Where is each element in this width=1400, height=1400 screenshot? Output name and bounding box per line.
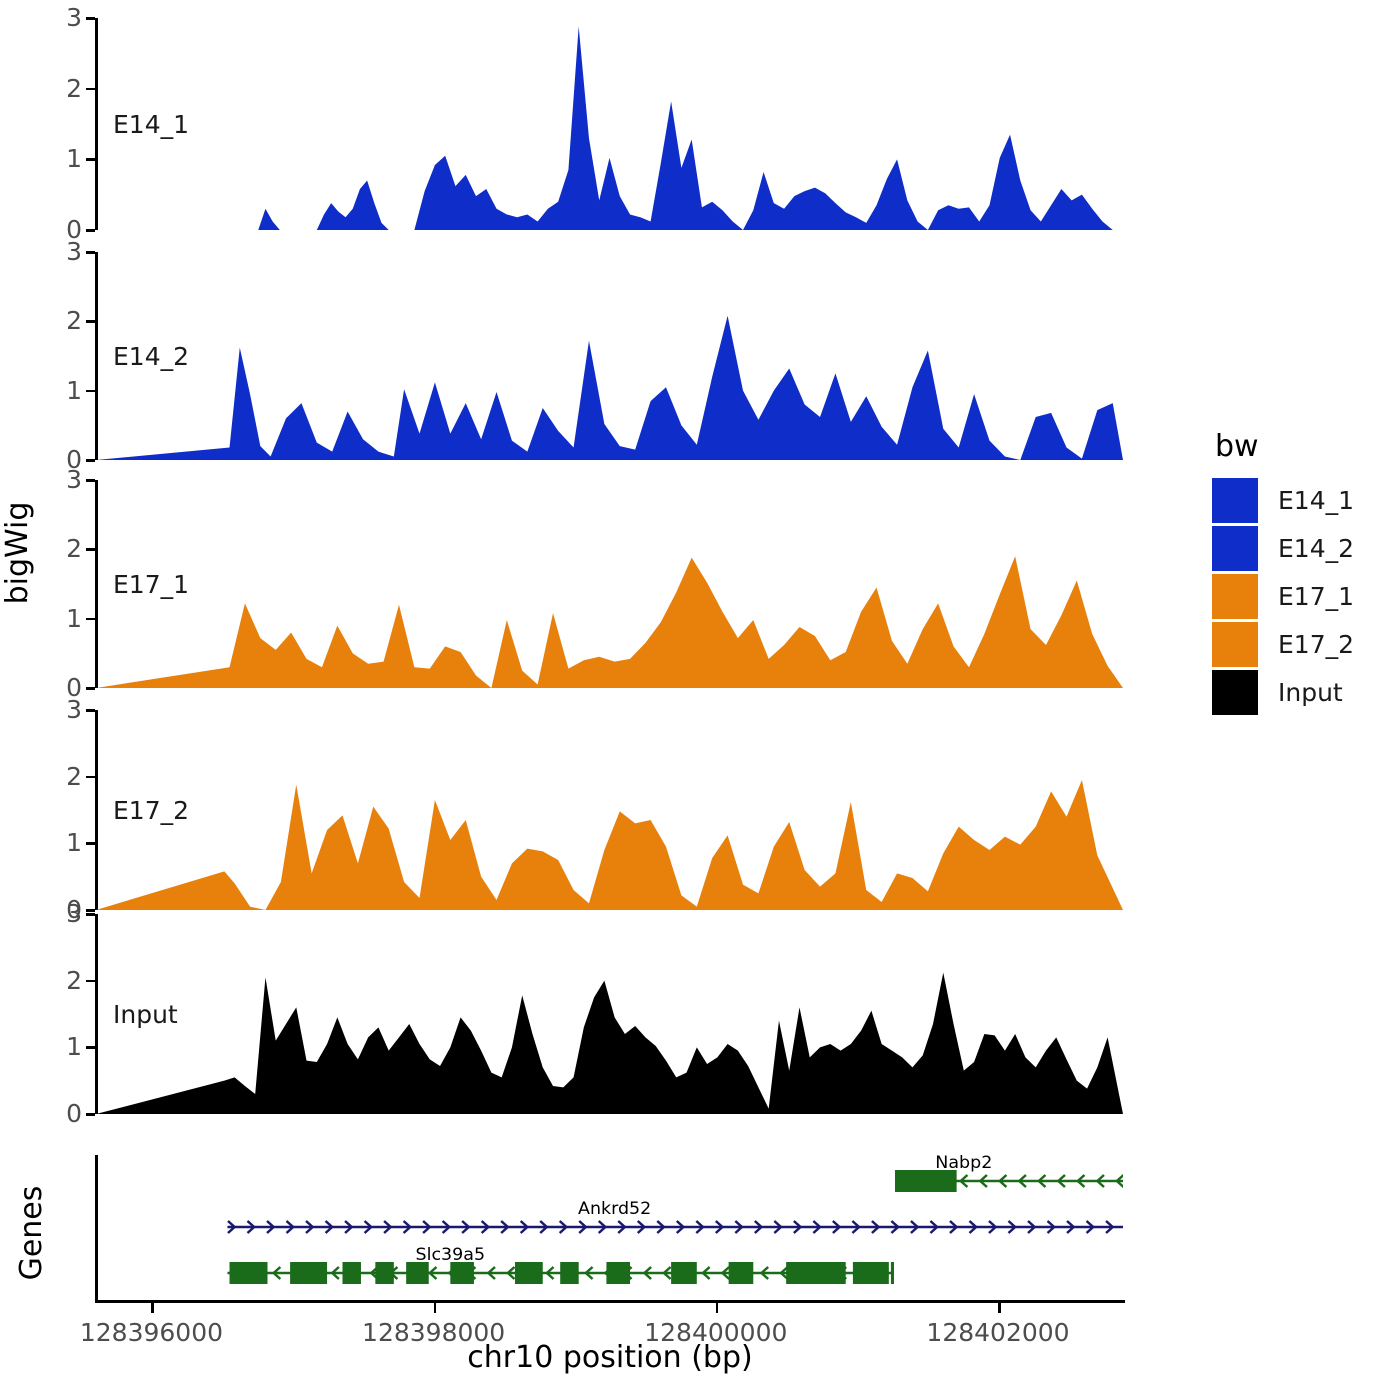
- legend-item-input[interactable]: Input: [1212, 668, 1392, 716]
- track-panel-e14_2: 0123E14_2: [95, 252, 1123, 460]
- legend-label: E14_2: [1278, 534, 1354, 563]
- y-tick-label: 1: [66, 830, 82, 855]
- legend-swatch: [1212, 526, 1258, 571]
- legend-label: Input: [1278, 678, 1343, 707]
- y-tick-e17_1-3: [86, 479, 95, 482]
- y-tick-label: 1: [66, 1034, 82, 1059]
- x-tick: [151, 1303, 154, 1313]
- x-axis-line: [95, 1300, 1125, 1303]
- legend: bw E14_1E14_2E17_1E17_2Input: [1212, 432, 1392, 716]
- track-panel-e17_2: 0123E17_2: [95, 710, 1123, 910]
- y-tick-label: 2: [66, 968, 82, 993]
- y-tick-e14_1-3: [86, 17, 95, 20]
- y-tick-input-2: [86, 980, 95, 983]
- y-tick-label: 3: [66, 697, 82, 722]
- y-tick-e14_2-2: [86, 320, 95, 323]
- y-tick-input-1: [86, 1046, 95, 1049]
- y-tick-e17_1-2: [86, 548, 95, 551]
- x-tick: [998, 1303, 1001, 1313]
- y-tick-e14_2-1: [86, 390, 95, 393]
- y-tick-e17_1-1: [86, 618, 95, 621]
- y-tick-e17_2-0: [86, 909, 95, 912]
- x-axis-title: chr10 position (bp): [95, 1340, 1125, 1375]
- track-panel-input: 0123Input: [95, 914, 1123, 1114]
- y-tick-label: 2: [66, 536, 82, 561]
- legend-item-e14_1[interactable]: E14_1: [1212, 476, 1392, 524]
- bigwig-axis-title: bigWig: [0, 483, 36, 623]
- y-tick-label: 0: [66, 1101, 82, 1126]
- svg-text:Nabp2: Nabp2: [935, 1155, 992, 1173]
- y-tick-label: 1: [66, 378, 82, 403]
- legend-label: E14_1: [1278, 486, 1354, 515]
- y-tick-label: 3: [66, 239, 82, 264]
- y-tick-label: 2: [66, 308, 82, 333]
- track-panel-e17_1: 0123E17_1: [95, 480, 1123, 688]
- legend-swatch: [1212, 622, 1258, 667]
- x-tick: [434, 1303, 437, 1313]
- y-tick-e14_2-0: [86, 459, 95, 462]
- svg-text:Slc39a5: Slc39a5: [416, 1245, 486, 1265]
- y-tick-e17_1-0: [86, 687, 95, 690]
- y-tick-label: 1: [66, 606, 82, 631]
- svg-text:Ankrd52: Ankrd52: [578, 1199, 651, 1219]
- y-tick-label: 2: [66, 764, 82, 789]
- genes-axis-title: Genes: [14, 1173, 50, 1293]
- legend-label: E17_2: [1278, 630, 1354, 659]
- x-tick: [716, 1303, 719, 1313]
- y-tick-label: 1: [66, 146, 82, 171]
- legend-item-e14_2[interactable]: E14_2: [1212, 524, 1392, 572]
- legend-swatch: [1212, 478, 1258, 523]
- legend-rows: E14_1E14_2E17_1E17_2Input: [1212, 476, 1392, 716]
- track-plot-e14_1[interactable]: [96, 18, 1123, 230]
- y-tick-e17_2-2: [86, 776, 95, 779]
- legend-title: bw: [1215, 432, 1392, 462]
- legend-item-e17_2[interactable]: E17_2: [1212, 620, 1392, 668]
- y-tick-e14_2-3: [86, 251, 95, 254]
- track-plot-input[interactable]: [96, 914, 1123, 1114]
- track-panel-e14_1: 0123E14_1: [95, 18, 1123, 230]
- y-tick-e17_2-1: [86, 842, 95, 845]
- y-tick-e17_2-3: [86, 709, 95, 712]
- y-tick-label: 3: [66, 5, 82, 30]
- track-plot-e17_1[interactable]: [96, 480, 1123, 688]
- y-tick-e14_1-2: [86, 88, 95, 91]
- y-tick-label: 2: [66, 76, 82, 101]
- y-tick-e14_1-0: [86, 229, 95, 232]
- legend-swatch: [1212, 574, 1258, 619]
- y-tick-label: 3: [66, 467, 82, 492]
- track-plot-e14_2[interactable]: [96, 252, 1123, 460]
- y-tick-input-3: [86, 913, 95, 916]
- legend-item-e17_1[interactable]: E17_1: [1212, 572, 1392, 620]
- genes-panel: Nabp2Ankrd52Slc39a5: [95, 1155, 1123, 1300]
- y-tick-input-0: [86, 1113, 95, 1116]
- track-plot-e17_2[interactable]: [96, 710, 1123, 910]
- y-tick-e14_1-1: [86, 158, 95, 161]
- legend-swatch: [1212, 670, 1258, 715]
- legend-label: E17_1: [1278, 582, 1354, 611]
- y-tick-label: 3: [66, 901, 82, 926]
- genes-track-plot[interactable]: Nabp2Ankrd52Slc39a5: [96, 1155, 1123, 1300]
